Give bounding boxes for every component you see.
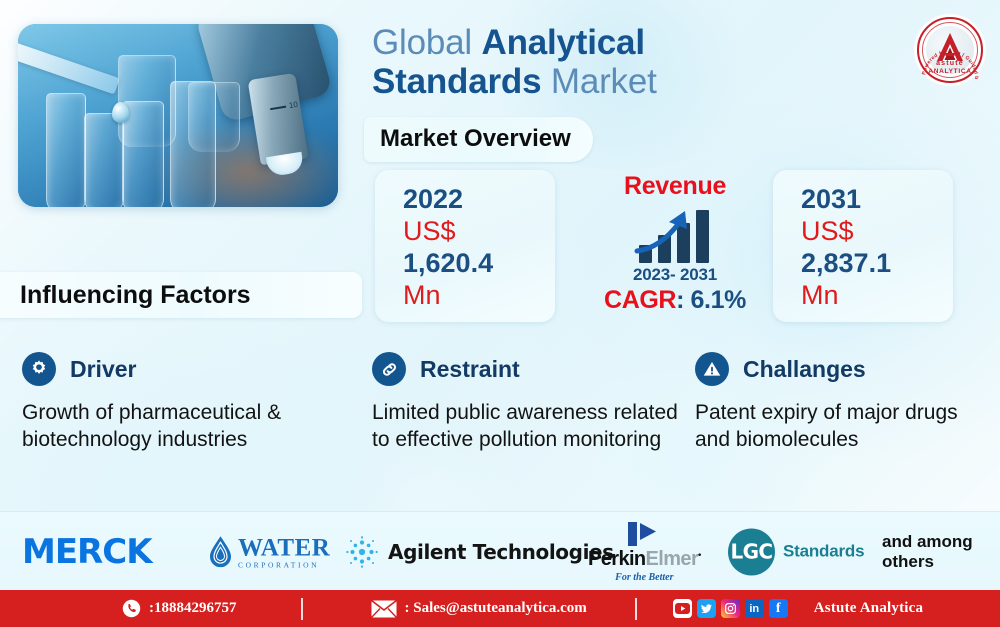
title-bold-standards: Standards [372, 62, 541, 101]
water-name: WATER [238, 535, 330, 560]
laboratory-hero-image: 10 [18, 24, 338, 207]
agilent-wordmark: Agilent Technologies [388, 540, 614, 564]
phone-number: :18884296757 [149, 600, 237, 617]
lgc-standards-logo: LGC Standards [728, 528, 864, 575]
factor-driver-header: Driver [22, 352, 352, 386]
chain-link-icon [372, 352, 406, 386]
facebook-glyph: f [776, 601, 781, 617]
and-among-others-label: and among others [882, 531, 973, 571]
warning-icon [695, 352, 729, 386]
factor-driver: Driver Growth of pharmaceutical & biotec… [22, 352, 352, 454]
cagr-label: CAGR [604, 286, 676, 314]
phone-contact[interactable]: :18884296757 [122, 599, 237, 618]
factor-restraint-header: Restraint [372, 352, 682, 386]
water-wordmark: WATER CORPORATION [238, 535, 330, 569]
forecast-year-stat-card: 2031 US$ 2,837.1 Mn [773, 170, 953, 322]
water-subtitle: CORPORATION [238, 561, 330, 569]
infographic-canvas: 10 Global AnalyticalStandards Market Mar… [0, 0, 1000, 627]
forecast-year-value: 2031 [801, 184, 953, 216]
phone-icon [122, 599, 141, 618]
logo-brand-line2: ANALYTICA [914, 68, 986, 75]
base-year-currency: US$ [403, 216, 555, 248]
instagram-icon[interactable] [721, 599, 740, 618]
factor-restraint: Restraint Limited public awareness relat… [372, 352, 682, 454]
revenue-growth-chart-icon [627, 205, 723, 263]
among-line1: and among [882, 531, 973, 551]
test-tube [46, 93, 86, 207]
linkedin-icon[interactable]: in [745, 599, 764, 618]
footer-brand-name: Astute Analytica [814, 600, 923, 617]
contact-footer: :18884296757 : Sales@astuteanalytica.com [0, 590, 1000, 627]
influencing-factors-title: Influencing Factors [20, 281, 251, 310]
forecast-year-unit: Mn [801, 280, 953, 312]
perkinelmer-mark-icon [588, 521, 701, 547]
cagr-separator: : [676, 286, 690, 314]
gear-icon [22, 352, 56, 386]
market-overview-badge: Market Overview [364, 117, 593, 162]
factor-driver-heading: Driver [70, 356, 136, 383]
factor-driver-text: Growth of pharmaceutical & biotechnology… [22, 400, 352, 454]
base-year-amount: 1,620.4 [403, 248, 555, 280]
lgc-standards-word: Standards [783, 542, 864, 562]
agilent-technologies-logo: Agilent Technologies [345, 535, 614, 569]
youtube-icon[interactable] [673, 599, 692, 618]
linkedin-glyph: in [749, 603, 759, 615]
factor-restraint-text: Limited public awareness related to effe… [372, 400, 682, 454]
title-suffix: Market [541, 62, 656, 101]
factor-challenges-header: Challanges [695, 352, 995, 386]
water-drop-icon [208, 536, 233, 568]
elmer-text: Elmer [646, 548, 699, 570]
influencing-factors-banner: Influencing Factors [0, 272, 362, 318]
email-address: : Sales@astuteanalytica.com [405, 600, 587, 617]
factor-challenges-text: Patent expiry of major drugs and biomole… [695, 400, 995, 454]
logo-a-mark-icon: Powered by Data | Guided by Intelligence [914, 14, 986, 86]
factor-restraint-heading: Restraint [420, 356, 520, 383]
astute-analytica-logo: Powered by Data | Guided by Intelligence… [914, 14, 986, 86]
lgc-mark: LGC [728, 528, 775, 575]
test-tube [170, 81, 216, 207]
merck-logo: MERCK [22, 532, 152, 572]
droplet-icon [112, 102, 129, 123]
footer-divider [301, 598, 303, 620]
among-line2: others [882, 552, 973, 572]
envelope-icon [371, 600, 397, 618]
title-prefix: Global [372, 23, 482, 62]
social-links: in f [673, 599, 788, 618]
perkinelmer-registered-mark: • [698, 549, 701, 559]
logo-brand-line1: astute [914, 60, 986, 67]
water-corporation-logo: WATER CORPORATION [208, 535, 330, 569]
magnification-value: 10 [288, 100, 298, 110]
base-year-unit: Mn [403, 280, 555, 312]
forecast-year-currency: US$ [801, 216, 953, 248]
cagr-value: 6.1% [691, 286, 746, 314]
agilent-starburst-icon [345, 535, 379, 569]
page-title: Global AnalyticalStandards Market [372, 24, 732, 101]
facebook-icon[interactable]: f [769, 599, 788, 618]
factor-challenges: Challanges Patent expiry of major drugs … [695, 352, 995, 454]
perkinelmer-wordmark: PerkinElmer• [588, 548, 701, 571]
footer-divider [635, 598, 637, 620]
growth-arrow-icon [627, 205, 723, 263]
perkin-text: Perkin [588, 548, 646, 570]
base-year-value: 2022 [403, 184, 555, 216]
test-tube [84, 113, 124, 207]
cagr-line: CAGR: 6.1% [580, 286, 770, 315]
perkinelmer-logo: PerkinElmer• For the Better [588, 521, 701, 583]
twitter-icon[interactable] [697, 599, 716, 618]
revenue-label: Revenue [580, 172, 770, 201]
base-year-stat-card: 2022 US$ 1,620.4 Mn [375, 170, 555, 322]
forecast-period-label: 2023- 2031 [580, 265, 770, 285]
company-logos-band: MERCK WATER CORPORATION [0, 511, 1000, 590]
factor-challenges-heading: Challanges [743, 356, 866, 383]
revenue-cagr-block: Revenue 2023- 2031 CAGR: 6.1% [580, 172, 770, 315]
perkinelmer-tagline: For the Better [588, 572, 701, 583]
email-contact[interactable]: : Sales@astuteanalytica.com [371, 600, 587, 618]
forecast-year-amount: 2,837.1 [801, 248, 953, 280]
title-bold-analytical: Analytical [482, 23, 645, 62]
